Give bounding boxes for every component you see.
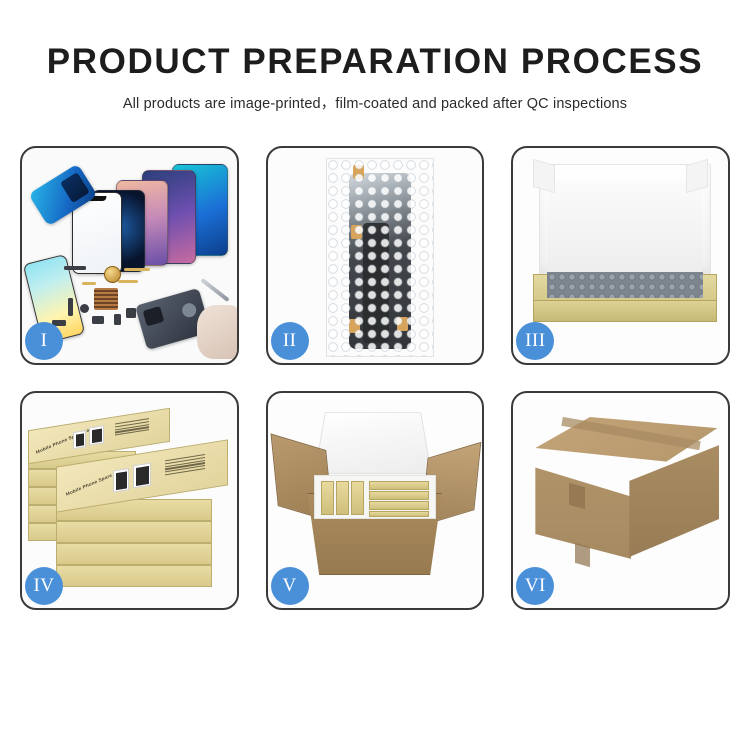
stacked-box-front-4: [56, 565, 212, 587]
hand: [197, 305, 239, 359]
process-step-card-3[interactable]: III: [511, 146, 730, 365]
box-phone-image-b: [89, 425, 104, 445]
inner-yellow-box-4: [369, 481, 429, 490]
step-badge-1: I: [25, 322, 63, 360]
process-step-card-6[interactable]: VI: [511, 391, 730, 610]
stacked-box-front-2: [56, 521, 212, 543]
process-row-2: Mobile Phone Spare Parts Mobile P: [20, 391, 730, 610]
box-phone-image-c: [113, 468, 129, 493]
step-badge-2: II: [271, 322, 309, 360]
box-phone-image-d: [133, 463, 151, 489]
box-spec-lines-back: [115, 418, 149, 437]
inner-yellow-box-6: [369, 501, 429, 510]
process-grid: I II: [20, 146, 730, 610]
inner-yellow-box-7: [369, 511, 429, 517]
page-subtitle: All products are image-printed，film-coat…: [0, 92, 750, 113]
flex-cable-b: [118, 280, 138, 283]
process-step-card-4[interactable]: Mobile Phone Spare Parts Mobile P: [20, 391, 239, 610]
page-title: PRODUCT PREPARATION PROCESS: [0, 44, 750, 81]
kraft-box-front-panel: [533, 300, 717, 322]
box-label-back: Mobile Phone Spare Parts: [35, 425, 96, 455]
carton-right-face: [629, 445, 719, 557]
flex-cable-a: [124, 268, 150, 271]
process-step-card-2[interactable]: II: [266, 146, 485, 365]
flex-cable-c: [82, 282, 96, 285]
small-part-d: [92, 316, 104, 324]
small-part-c: [80, 304, 89, 313]
step-badge-4: IV: [25, 567, 63, 605]
box-phone-image-a: [73, 430, 86, 449]
carton-tab-upper: [569, 483, 585, 510]
foam-liner: [314, 475, 436, 519]
small-part-b: [68, 298, 73, 316]
carton-tab-lower: [575, 543, 590, 567]
small-part-a: [64, 266, 86, 270]
process-step-card-5[interactable]: V: [266, 391, 485, 610]
box-spec-lines-front: [165, 454, 205, 477]
box-stack: Mobile Phone Spare Parts Mobile P: [28, 407, 234, 597]
bubble-wrap-bag: [326, 158, 434, 357]
inner-yellow-box-5: [369, 491, 429, 500]
process-step-card-1[interactable]: I: [20, 146, 239, 365]
page-header: PRODUCT PREPARATION PROCESS All products…: [0, 0, 750, 113]
stacked-box-front-3: [56, 543, 212, 565]
process-row-1: I II: [20, 146, 730, 365]
screwdriver-icon: [200, 278, 229, 302]
chip-grid-part: [94, 288, 118, 310]
inner-yellow-box-2: [336, 481, 349, 515]
inner-yellow-box-1: [321, 481, 334, 515]
foam-lid: [314, 412, 432, 474]
inner-yellow-box-3: [351, 481, 364, 515]
lid-flap-left: [533, 159, 555, 193]
small-part-f: [126, 308, 136, 318]
bubble-wrapped-contents: [547, 272, 703, 298]
bubble-texture-overlay: [327, 159, 433, 356]
step-badge-5: V: [271, 567, 309, 605]
small-part-e: [114, 314, 121, 325]
